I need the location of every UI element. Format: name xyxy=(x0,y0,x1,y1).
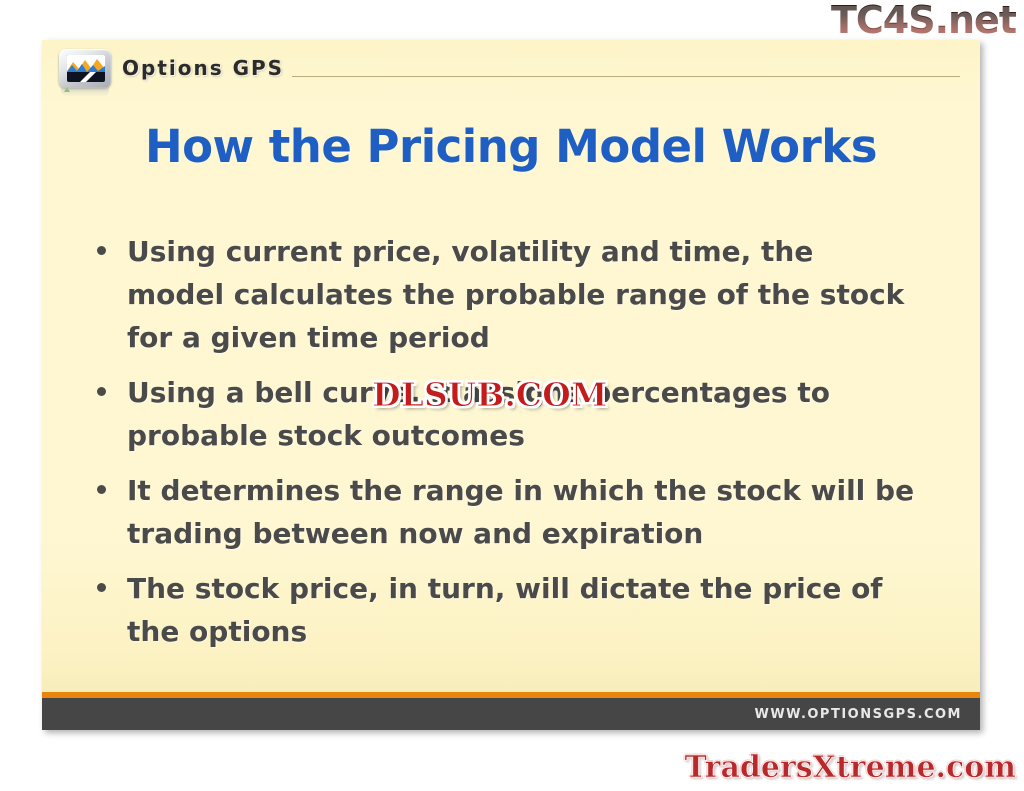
list-item: Using current price, volatility and time… xyxy=(97,230,957,359)
gps-device-icon xyxy=(57,49,113,94)
gps-device-reflection xyxy=(61,87,109,97)
bullet-marker-icon xyxy=(97,230,127,255)
gps-device-screen xyxy=(67,55,105,82)
slide-header: Options GPS xyxy=(42,40,980,102)
list-item-text: It determines the range in which the sto… xyxy=(127,469,917,555)
dlsub-watermark: DLSUB.COM xyxy=(372,375,607,414)
list-item-text: Using current price, volatility and time… xyxy=(127,230,917,359)
bullet-marker-icon xyxy=(97,371,127,396)
bullet-marker-icon xyxy=(97,567,127,592)
page-title: How the Pricing Model Works xyxy=(42,120,980,173)
brand-name: Options GPS xyxy=(122,56,284,80)
header-divider xyxy=(292,76,960,77)
footer-url: WWW.OPTIONSGPS.COM xyxy=(754,707,962,722)
footer-bar: WWW.OPTIONSGPS.COM xyxy=(42,698,980,730)
tradersxtreme-watermark: TradersXtreme.com xyxy=(685,750,1016,785)
list-item: It determines the range in which the sto… xyxy=(97,469,957,555)
slide-footer: WWW.OPTIONSGPS.COM xyxy=(42,692,980,730)
list-item: The stock price, in turn, will dictate t… xyxy=(97,567,957,653)
bullet-marker-icon xyxy=(97,469,127,494)
presentation-slide: Options GPS How the Pricing Model Works … xyxy=(42,40,980,730)
bullet-list: Using current price, volatility and time… xyxy=(97,230,957,665)
list-item-text: The stock price, in turn, will dictate t… xyxy=(127,567,917,653)
tc4s-watermark: TC4S.net xyxy=(831,0,1016,42)
gps-screen-landscape-icon xyxy=(67,55,105,82)
